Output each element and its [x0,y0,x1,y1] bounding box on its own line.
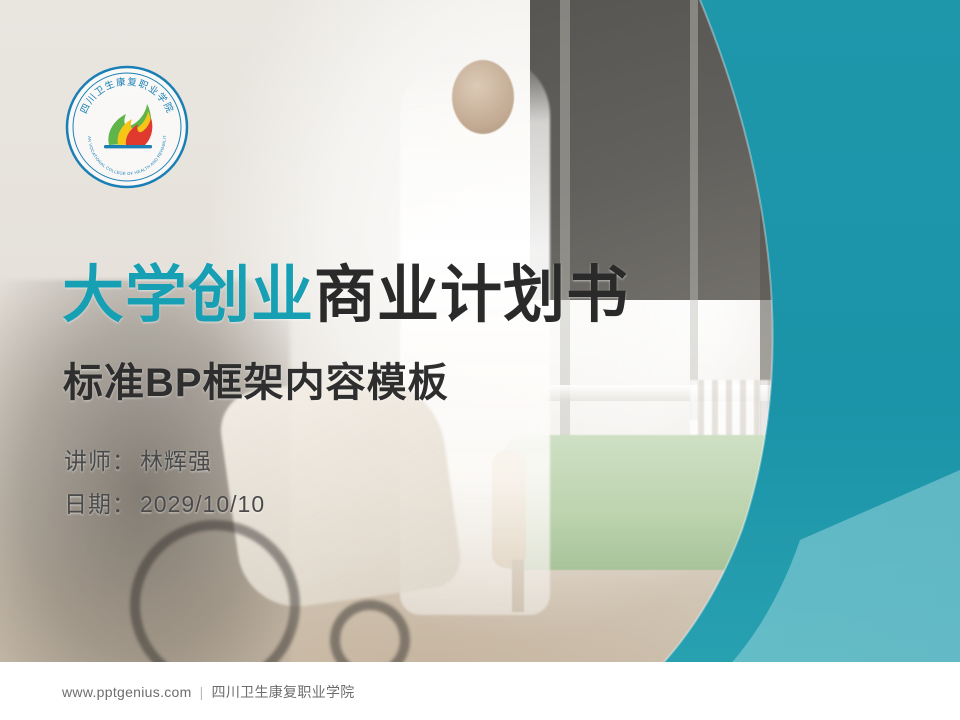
presentation-slide: 四川卫生康复职业学院 SICHUAN VOCATIONAL COLLEGE OF… [0,0,960,720]
slide-subtitle: 标准BP框架内容模板 [63,350,449,408]
title-accent-text: 大学创业 [62,261,314,330]
date-line: 日期：2029/10/10 [64,485,265,519]
presenter-label: 讲师： [64,448,136,474]
presenter-value: 林辉强 [140,448,212,474]
college-logo: 四川卫生康复职业学院 SICHUAN VOCATIONAL COLLEGE OF… [62,62,192,192]
footer-site: www.pptgenius.com [62,684,192,700]
date-value: 2029/10/10 [140,491,265,517]
footer-organization: 四川卫生康复职业学院 [212,684,355,700]
slide-title: 大学创业商业计划书 [62,262,629,330]
title-rest-text: 商业计划书 [314,261,629,330]
date-label: 日期： [64,491,136,517]
footer-credit: www.pptgenius.com|四川卫生康复职业学院 [62,682,355,702]
presenter-line: 讲师：林辉强 [64,442,212,476]
footer-divider: | [200,684,204,700]
